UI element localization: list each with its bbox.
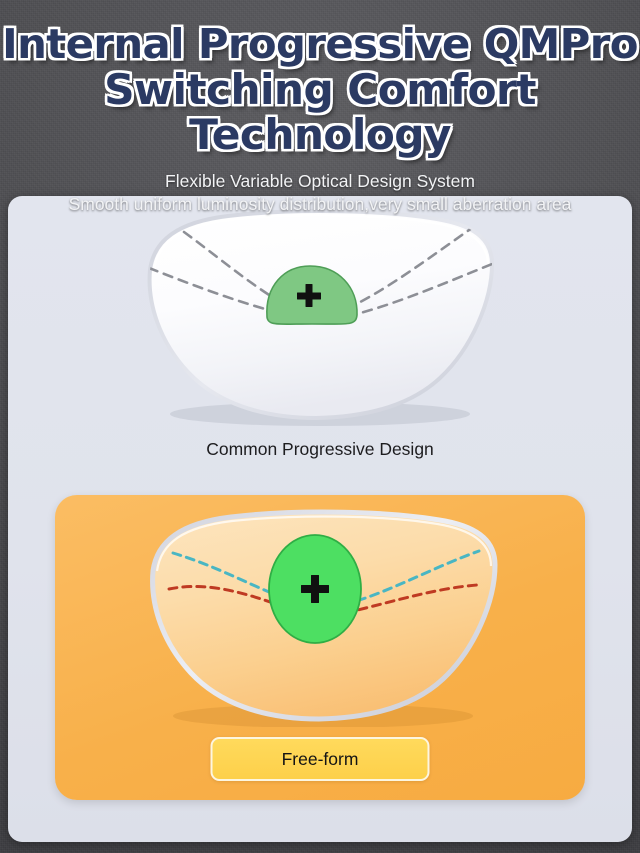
near-vision-zone-marker (269, 535, 361, 643)
lens-diagram-freeform (123, 509, 523, 727)
panel-freeform: Free-form (55, 495, 585, 800)
lens-diagram-common (120, 208, 520, 426)
freeform-button[interactable]: Free-form (211, 737, 430, 781)
page-subtitle-line-2: Smooth uniform luminosity distribution,v… (0, 193, 640, 216)
promo-page: Internal Progressive QMPro Switching Com… (0, 0, 640, 853)
panel-common-progressive: Common Progressive Design (8, 196, 632, 488)
header: Internal Progressive QMPro Switching Com… (0, 0, 640, 216)
caption-common-progressive: Common Progressive Design (8, 439, 632, 460)
lens-common-svg (120, 208, 520, 426)
page-title-line-2: Switching Comfort Technology (0, 67, 640, 157)
lens-freeform-svg (123, 509, 523, 727)
page-subtitle-line-1: Flexible Variable Optical Design System (0, 170, 640, 193)
content-card: Common Progressive Design (8, 196, 632, 842)
page-subtitle: Flexible Variable Optical Design System … (0, 170, 640, 216)
page-title: Internal Progressive QMPro Switching Com… (0, 22, 640, 157)
freeform-button-label: Free-form (282, 749, 359, 770)
page-title-line-1: Internal Progressive QMPro (0, 22, 640, 67)
